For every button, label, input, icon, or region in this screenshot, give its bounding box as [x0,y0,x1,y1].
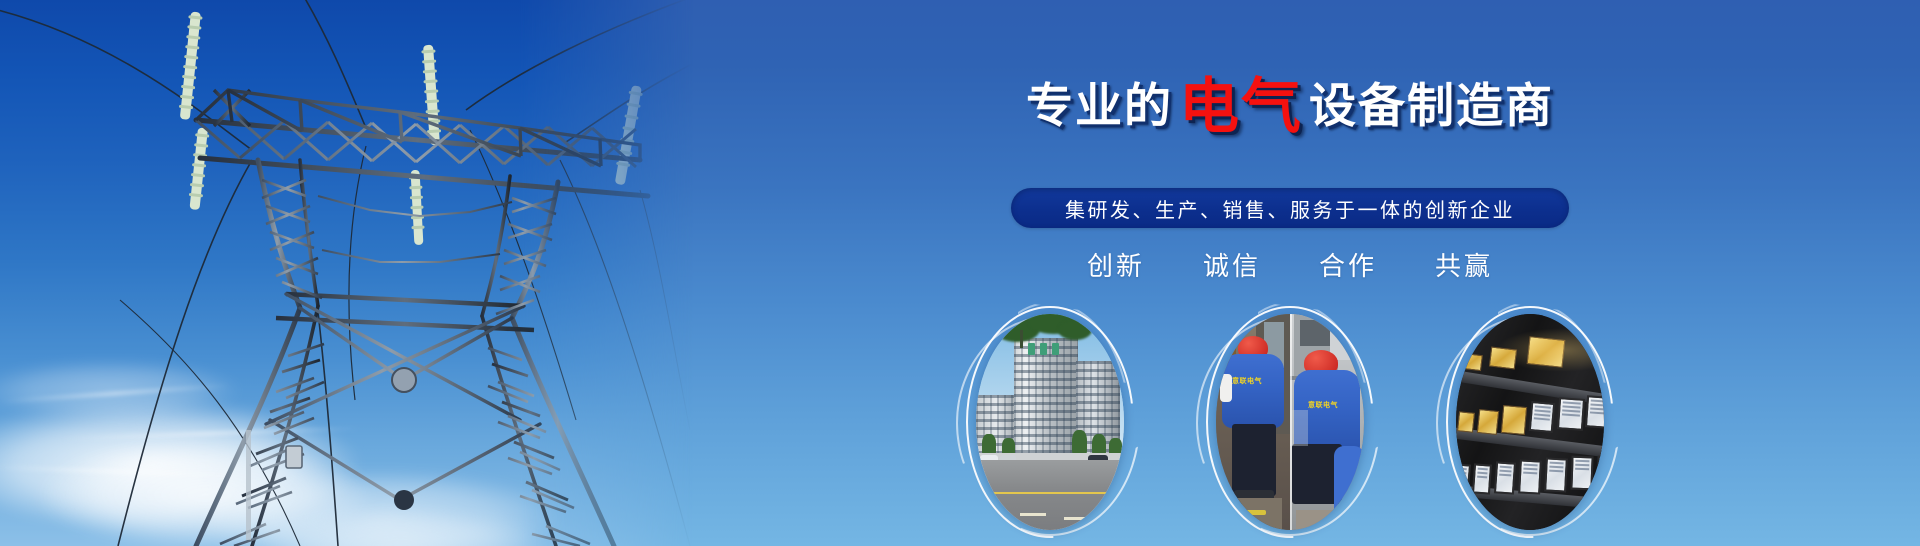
certificate-wall-image [1456,314,1604,530]
headline-part-1: 专业的 [1026,79,1173,134]
keyword-cooperation: 合作 [1319,246,1377,283]
uniform-badge-text: 意联电气 [1308,400,1338,410]
pylon-structure [0,0,700,546]
photo-circle-office-building[interactable] [954,300,1146,546]
photo-split-divider [1290,314,1292,530]
headline-highlight: 电气 [1173,72,1309,142]
headline-part-2: 设备制造商 [1309,79,1554,134]
keyword-row: 创新 诚信 合作 共赢 [660,246,1920,283]
photo-circle-workers[interactable]: 意联电气 [1194,300,1386,546]
office-building-image [976,314,1124,530]
uniform-badge-text: 意联电气 [1232,376,1262,386]
page-title: 专业的电气设备制造商 [660,72,1920,132]
subtitle-pill: 集研发、生产、销售、服务于一体的创新企业 [1011,188,1569,228]
subtitle-text: 集研发、生产、销售、服务于一体的创新企业 [1065,194,1515,223]
photo-circle-certificates[interactable] [1434,300,1626,546]
keyword-innovation: 创新 [1087,246,1145,283]
photo-circle-row: 意联电气 [660,300,1920,546]
transmission-tower-photo [0,0,700,546]
banner-content: 专业的电气设备制造商 集研发、生产、销售、服务于一体的创新企业 创新 诚信 合作… [660,0,1920,546]
workers-installing-image: 意联电气 [1216,314,1364,530]
keyword-win-win: 共赢 [1435,246,1493,283]
keyword-integrity: 诚信 [1203,246,1261,283]
hero-banner: 专业的电气设备制造商 集研发、生产、销售、服务于一体的创新企业 创新 诚信 合作… [0,0,1920,546]
subtitle-pill-container: 集研发、生产、销售、服务于一体的创新企业 [660,188,1920,228]
